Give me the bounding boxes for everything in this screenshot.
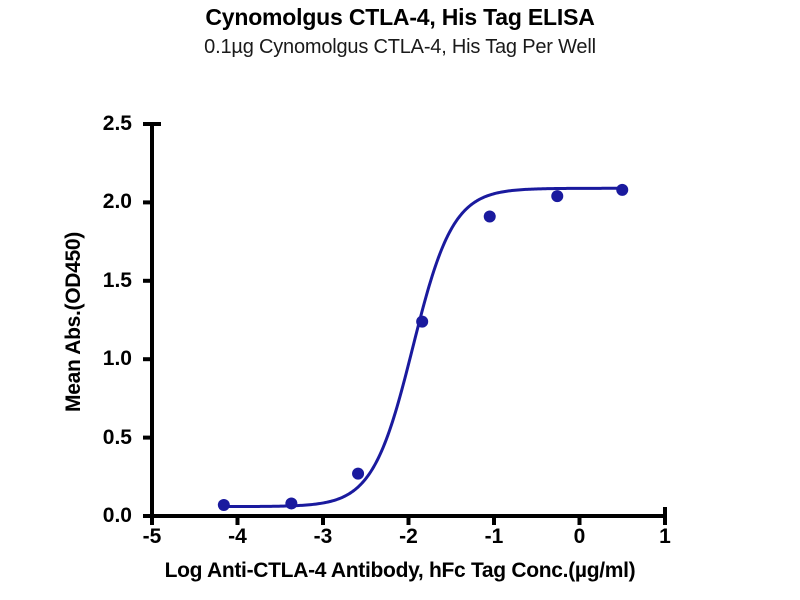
x-tick-label: -4 bbox=[208, 525, 268, 549]
data-point-4 bbox=[484, 211, 496, 223]
x-tick-label: 1 bbox=[635, 525, 695, 549]
y-axis-title: Mean Abs.(OD450) bbox=[62, 162, 86, 482]
data-point-1 bbox=[285, 497, 297, 509]
x-tick-label: -2 bbox=[379, 525, 439, 549]
data-point-2 bbox=[352, 468, 364, 480]
x-tick-labels: -5-4-3-2-101 bbox=[0, 525, 800, 555]
x-tick-label: -1 bbox=[464, 525, 524, 549]
data-point-6 bbox=[616, 184, 628, 196]
data-point-0 bbox=[218, 499, 230, 511]
axes bbox=[143, 124, 665, 525]
data-series bbox=[218, 184, 628, 511]
x-tick-label: 0 bbox=[550, 525, 610, 549]
data-point-5 bbox=[551, 190, 563, 202]
data-point-3 bbox=[416, 316, 428, 328]
chart-figure: Cynomolgus CTLA-4, His Tag ELISA 0.1µg C… bbox=[0, 0, 800, 600]
x-tick-label: -3 bbox=[293, 525, 353, 549]
x-tick-label: -5 bbox=[122, 525, 182, 549]
fit-curve bbox=[224, 188, 622, 506]
y-tick-label: 2.5 bbox=[76, 112, 132, 136]
x-axis-title: Log Anti-CTLA-4 Antibody, hFc Tag Conc.(… bbox=[0, 559, 800, 583]
